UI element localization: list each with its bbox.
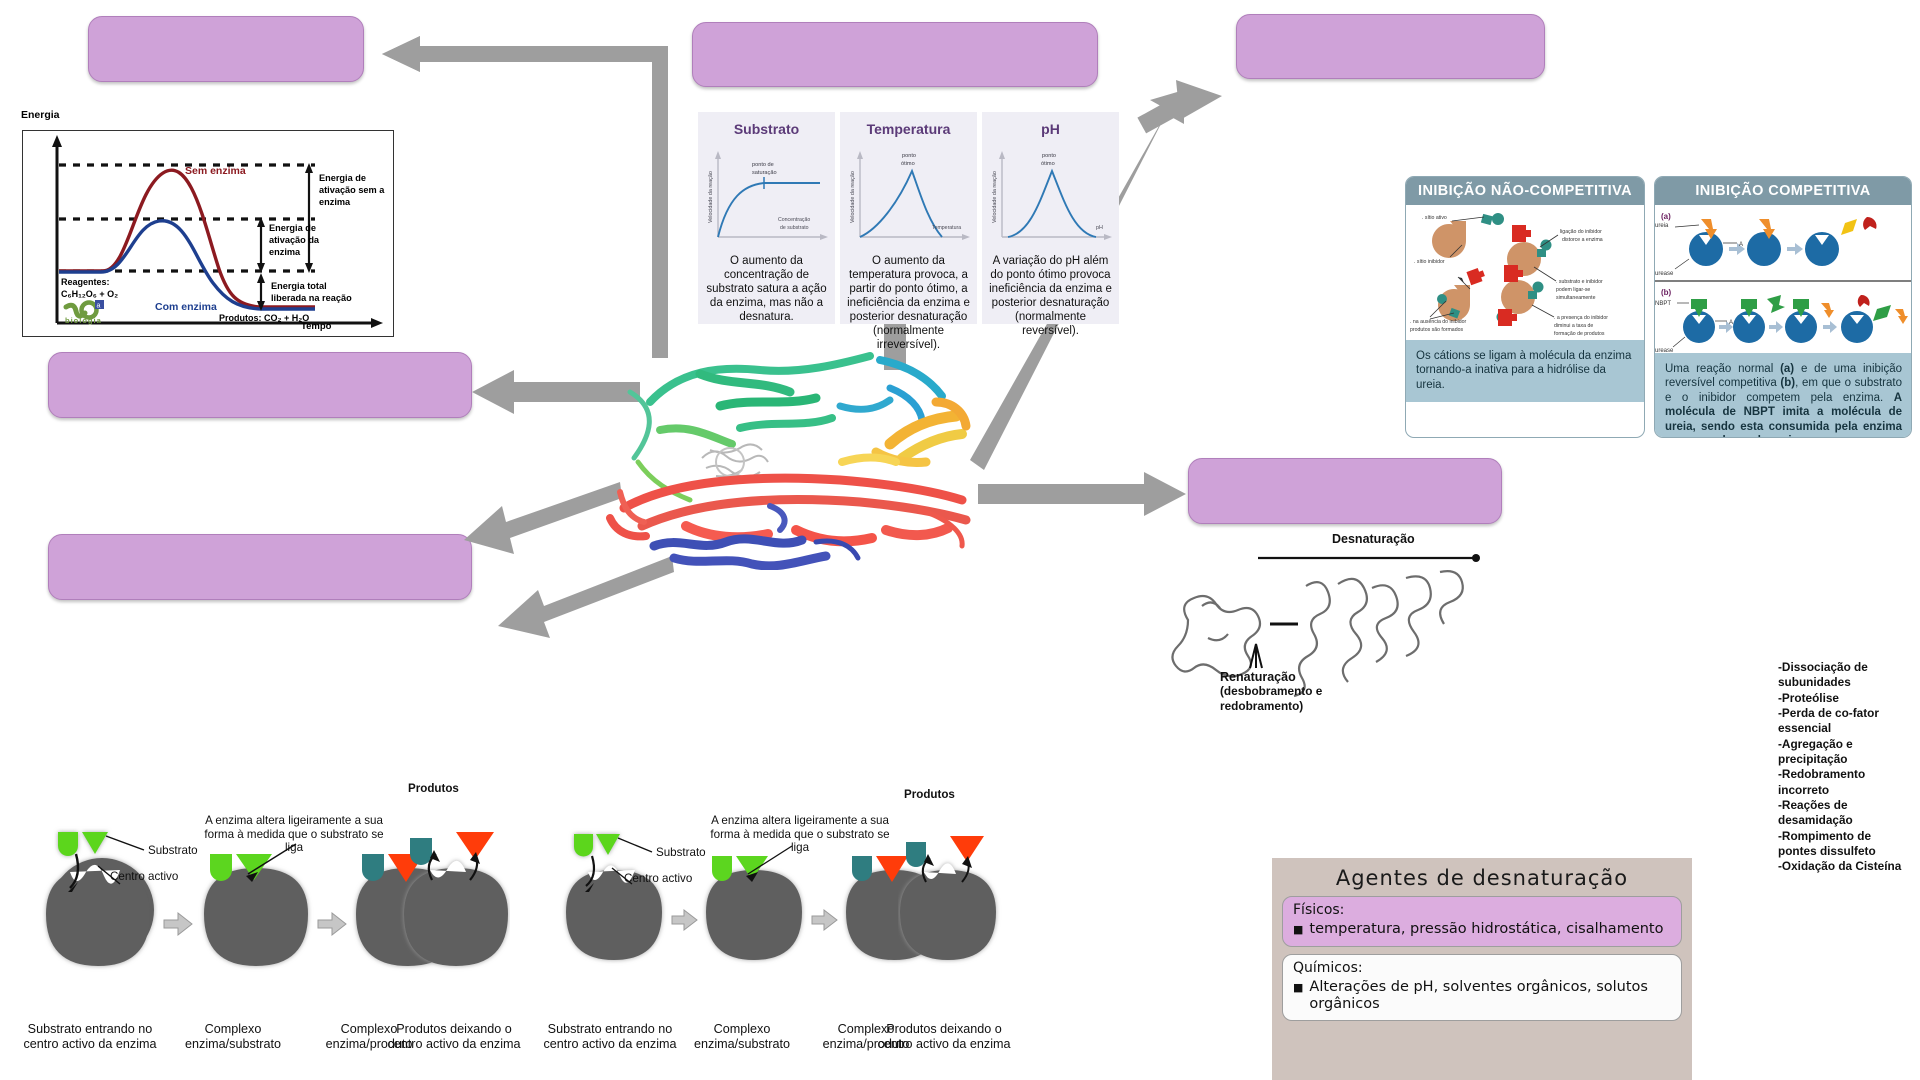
enzyme-shape-note-1: A enzima altera ligeiramente a sua forma… (204, 814, 384, 855)
svg-text:distorce a enzima: distorce a enzima (1562, 237, 1603, 243)
reagents-formula: C₆H₁₂O₆ + O₂ (61, 289, 118, 299)
svg-text:A: A (1729, 320, 1733, 326)
substrate-label-1: Substrato (148, 844, 198, 857)
factor-caption-substrato: O aumento da concentração de substrato s… (703, 254, 830, 324)
substrate-label-2: Substrato (656, 846, 706, 859)
factor-chart-temperatura: Velocidade da reação Temperatura ponto ó… (844, 141, 974, 246)
svg-text:urease: urease (1655, 348, 1674, 353)
svg-text:produtos são formados: produtos são formados (1410, 327, 1463, 333)
factor-title-substrato: Substrato (734, 121, 799, 137)
bullet-square-icon: ■ (1293, 921, 1303, 939)
biologia-logo-text: biologia (65, 316, 102, 325)
svg-text:ureia: ureia (1655, 223, 1669, 229)
protein-ribbon-structure (590, 340, 990, 570)
products-label: Produtos: CO₂ + H₂O (219, 313, 309, 323)
arrow-to-right-box (978, 470, 1188, 518)
svg-text:Temperatura: Temperatura (932, 225, 961, 231)
svg-text:ótimo: ótimo (1041, 161, 1055, 167)
denaturation-effects-list: -Dissociação de subunidades -Proteólise … (1778, 660, 1908, 875)
svg-text:. a presença do inibidor: . a presença do inibidor (1554, 315, 1608, 321)
denaturation-effect-item: -Proteólise (1778, 691, 1908, 706)
active-site-label-2: Centro activo (624, 872, 692, 885)
factor-title-ph: pH (1041, 121, 1060, 137)
chemical-agents-box[interactable]: Químicos: ■ Alterações de pH, solventes … (1282, 954, 1682, 1021)
factor-chart-substrato: Velocidade da reação Concentração de sub… (702, 141, 832, 246)
svg-text:a: a (97, 303, 101, 310)
denaturing-agents-card: Agentes de desnaturação Físicos: ■ tempe… (1272, 858, 1692, 1080)
activation-no-enzyme-label: Energia de ativação sem a enzima (319, 173, 391, 208)
mechanism-caption-2-step2: Complexo enzima/substrato (682, 1022, 802, 1053)
physical-agents-item: ■ temperatura, pressão hidrostática, cis… (1293, 921, 1671, 939)
factor-chart-ph: Velocidade da reação pH ponto ótimo (986, 141, 1116, 246)
competitive-inhibition-title: INIBIÇÃO COMPETITIVA (1655, 177, 1911, 205)
svg-text:ligação do inibidor: ligação do inibidor (1560, 229, 1602, 235)
svg-text:ponto: ponto (902, 153, 916, 159)
svg-text:. sítio inibidor: . sítio inibidor (1414, 259, 1445, 265)
purple-box-lower-left[interactable] (48, 534, 472, 600)
denaturation-label: Desnaturação (1332, 532, 1415, 546)
svg-text:NBPT: NBPT (1655, 301, 1671, 307)
svg-text:ótimo: ótimo (901, 161, 915, 167)
denaturation-effect-item: -Reações de desamidação (1778, 798, 1908, 829)
denaturation-figure: Desnaturação Renaturação (desbobramento … (1158, 528, 1558, 718)
energy-diagram: Energia Tempo Sem enzima Com enzima Reag… (22, 130, 394, 337)
competitive-inhibition-card: INIBIÇÃO COMPETITIVA (a) (1654, 176, 1912, 438)
factor-caption-ph: A variação do pH além do ponto ótimo pro… (987, 254, 1114, 338)
activation-enzyme-label: Energia de ativação da enzima (269, 223, 331, 258)
purple-box-mid-left[interactable] (48, 352, 472, 418)
arrow-to-top-left (376, 28, 676, 358)
factor-column-ph: pH Velocidade da reação pH ponto ótimo A… (982, 112, 1119, 324)
purple-box-right[interactable] (1188, 458, 1502, 524)
mechanism-caption-1-step2: Complexo enzima/substrato (168, 1022, 298, 1053)
physical-agents-heading: Físicos: (1293, 902, 1671, 918)
mechanism-caption-2-step4: Produtos deixando o centro activo da enz… (876, 1022, 1012, 1053)
svg-text:formação de produtos: formação de produtos (1554, 331, 1605, 337)
svg-text:Concentração: Concentração (778, 217, 810, 223)
svg-text:simultaneamente: simultaneamente (1556, 295, 1596, 301)
svg-text:Velocidade da reação: Velocidade da reação (708, 171, 714, 223)
svg-text:. na ausência do inibidor: . na ausência do inibidor (1410, 319, 1467, 325)
svg-text:ponto de: ponto de (752, 162, 774, 168)
svg-text:. sítio ativo: . sítio ativo (1422, 215, 1447, 221)
svg-text:A: A (1739, 242, 1743, 248)
reagents-label: Reagentes: (61, 277, 110, 287)
svg-text:ponto: ponto (1042, 153, 1056, 159)
bullet-square-icon: ■ (1293, 979, 1303, 1013)
competitive-caption-b: (b) (1780, 377, 1795, 389)
curve-label-without-enzyme: Sem enzima (185, 165, 246, 177)
denaturation-effect-item: -Dissociação de subunidades (1778, 660, 1908, 691)
enzyme-shape-note-2: A enzima altera ligeiramente a sua forma… (710, 814, 890, 855)
denaturing-agents-title: Agentes de desnaturação (1282, 866, 1682, 890)
denaturation-effect-item: -Perda de co-fator essencial (1778, 706, 1908, 737)
enzyme-mechanism-products-2: Produtos (898, 800, 1003, 1015)
physical-agents-box[interactable]: Físicos: ■ temperatura, pressão hidrostá… (1282, 896, 1682, 947)
svg-text:Velocidade da reação: Velocidade da reação (992, 171, 998, 223)
chemical-agents-item-text: Alterações de pH, solventes orgânicos, s… (1309, 979, 1671, 1013)
factor-title-temperatura: Temperatura (867, 121, 951, 137)
svg-text:. substrato e inibidor: . substrato e inibidor (1556, 279, 1603, 285)
svg-text:podem ligar-se: podem ligar-se (1556, 287, 1590, 293)
purple-box-top-left[interactable] (88, 16, 364, 82)
svg-text:Velocidade da reação: Velocidade da reação (850, 171, 856, 223)
svg-text:urease: urease (1655, 271, 1674, 277)
purple-box-top-right[interactable] (1236, 14, 1545, 79)
denaturation-effect-item: -Redobramento incorreto (1778, 767, 1908, 798)
factor-column-temperatura: Temperatura Velocidade da reação Tempera… (840, 112, 977, 324)
chemical-agents-item: ■ Alterações de pH, solventes orgânicos,… (1293, 979, 1671, 1013)
renaturation-sublabel: (desbobramento e redobramento) (1220, 684, 1340, 713)
biologia-logo: a biologia (63, 299, 119, 329)
curve-label-with-enzyme: Com enzima (155, 301, 217, 313)
active-site-label-1: Centro activo (110, 870, 178, 883)
energy-axis-label: Energia (21, 109, 60, 121)
competitive-caption-part1: Uma reação normal (1665, 363, 1780, 375)
mechanism-caption-2-step1: Substrato entrando no centro activo da e… (542, 1022, 678, 1053)
denaturation-effect-item: -Agregação e precipitação (1778, 737, 1908, 768)
non-competitive-inhibition-caption: Os cátions se ligam à molécula da enzima… (1406, 340, 1644, 402)
svg-text:saturação: saturação (752, 170, 777, 176)
competitive-caption-a: (a) (1780, 363, 1794, 375)
non-competitive-inhibition-figure: . sítio ativo . sítio inibidor ligação d… (1406, 205, 1644, 340)
mechanism-caption-1-step4: Produtos deixando o centro activo da enz… (384, 1022, 524, 1053)
svg-text:(a): (a) (1661, 212, 1671, 221)
mechanism-caption-1-step1: Substrato entrando no centro activo da e… (20, 1022, 160, 1053)
competitive-inhibition-caption: Uma reação normal (a) e de uma inibição … (1655, 353, 1911, 438)
svg-text:pH: pH (1096, 225, 1103, 231)
non-competitive-inhibition-card: INIBIÇÃO NÃO-COMPETITIVA (1405, 176, 1645, 438)
products-label-2: Produtos (904, 788, 955, 801)
denaturation-effect-item: -Rompimento de pontes dissulfeto (1778, 829, 1908, 860)
factor-caption-temperatura: O aumento da temperatura provoca, a part… (845, 254, 972, 352)
svg-text:diminui a taxa de: diminui a taxa de (1554, 323, 1593, 329)
chemical-agents-heading: Químicos: (1293, 960, 1671, 976)
non-competitive-inhibition-title: INIBIÇÃO NÃO-COMPETITIVA (1406, 177, 1644, 205)
svg-text:(b): (b) (1661, 288, 1672, 297)
products-label-1: Produtos (408, 782, 459, 795)
factor-column-substrato: Substrato Velocidade da reação Concentra… (698, 112, 835, 324)
competitive-inhibition-figure: (a) (1655, 205, 1911, 353)
svg-text:de substrato: de substrato (780, 225, 809, 231)
enzyme-mechanism-products-1: Produtos (400, 792, 510, 1022)
enzyme-factors-panel: Substrato Velocidade da reação Concentra… (698, 112, 1118, 324)
denaturation-effect-item: -Oxidação da Cisteína (1778, 859, 1908, 874)
physical-agents-item-text: temperatura, pressão hidrostática, cisal… (1309, 921, 1663, 939)
renaturation-label: Renaturação (1220, 670, 1296, 684)
total-energy-label: Energia total liberada na reação (271, 281, 357, 305)
